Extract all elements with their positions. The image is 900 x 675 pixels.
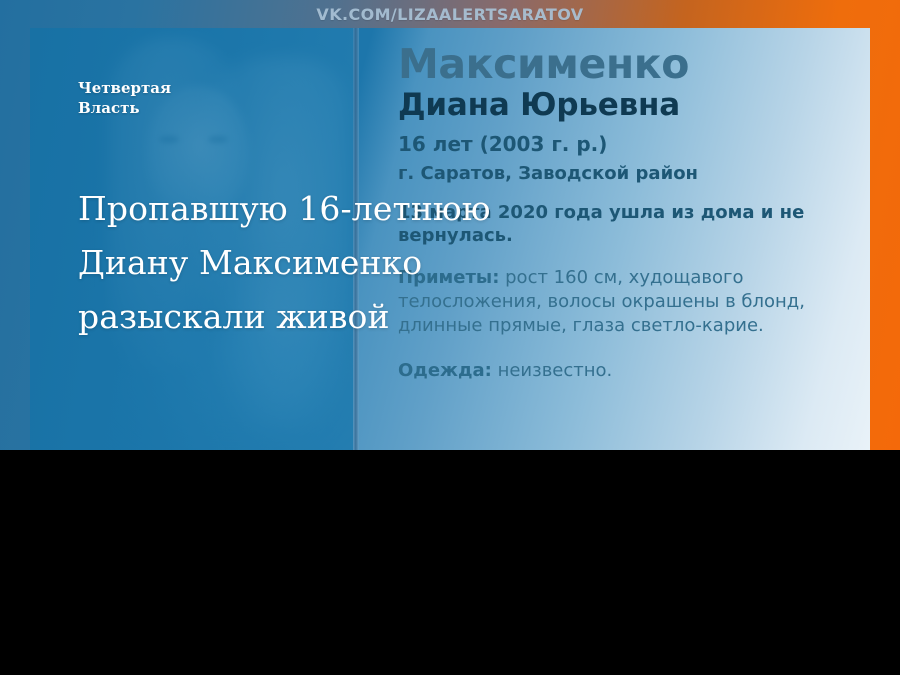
headline-line-1: Пропавшую 16-летнюю — [78, 182, 838, 236]
headline-line-3: разыскали живой — [78, 290, 838, 344]
site-logo-line-2: Власть — [78, 99, 171, 119]
poster-clothes-label: Одежда: — [398, 360, 492, 381]
poster-given-name: Диана Юрьевна — [398, 88, 870, 123]
screenshot-stage: VK.COM/LIZAALERTSARATOV Максименко Диана… — [0, 0, 900, 675]
poster-place: г. Саратов, Заводской район — [398, 163, 870, 184]
poster-clothes: Одежда: неизвестно. — [398, 359, 860, 383]
poster-clothes-value: неизвестно. — [498, 360, 613, 381]
site-logo[interactable]: Четвертая Власть — [78, 79, 171, 119]
poster-age: 16 лет (2003 г. р.) — [398, 132, 870, 156]
vk-watermark-strip: VK.COM/LIZAALERTSARATOV — [0, 0, 900, 28]
vk-watermark-text: VK.COM/LIZAALERTSARATOV — [316, 5, 583, 24]
page-body-blank-area — [0, 450, 900, 675]
headline-line-2: Диану Максименко — [78, 236, 838, 290]
article-headline[interactable]: Пропавшую 16-летнюю Диану Максименко раз… — [78, 182, 838, 343]
poster-surname: Максименко — [398, 44, 870, 86]
site-logo-line-1: Четвертая — [78, 79, 171, 99]
article-hero-image: VK.COM/LIZAALERTSARATOV Максименко Диана… — [0, 0, 900, 450]
